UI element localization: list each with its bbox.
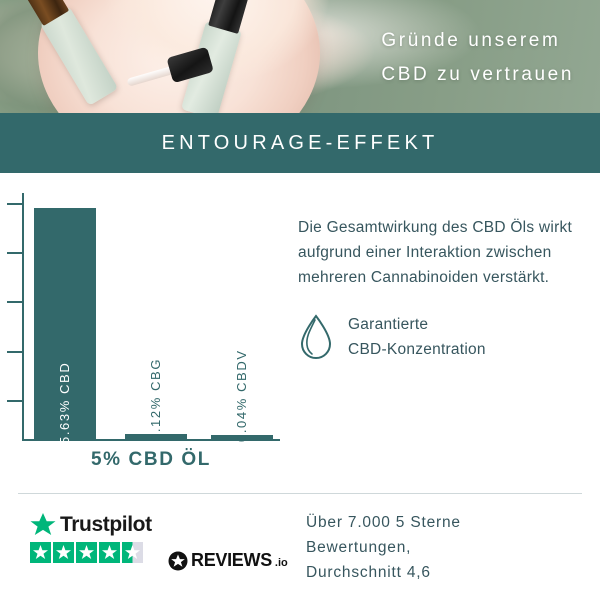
chart-x-axis-label: 5% CBD ÖL [22, 449, 280, 471]
guarantee-line-2: CBD-Konzentration [348, 337, 486, 362]
chart-y-tick [7, 351, 24, 353]
star-icon [101, 544, 118, 561]
water-drop-icon [298, 314, 334, 360]
footer-divider [18, 493, 582, 494]
star-icon [124, 544, 141, 561]
trustpilot-wordmark: Trustpilot [30, 512, 152, 537]
chart-y-tick [7, 400, 24, 402]
reviewsio-star-icon [168, 551, 188, 571]
cannabinoid-bar-chart: 5.63% CBD0.12% CBG0.04% CBDV 5% CBD ÖL [0, 191, 292, 461]
footer-text-line-3: Durchschnitt 4,6 [306, 560, 590, 585]
review-badges: Trustpilot REVIEWS .io [0, 500, 292, 600]
chart-bar-label: 0.12% CBG [148, 358, 163, 441]
trustpilot-star-icon [30, 512, 56, 537]
guarantee-line-1: Garantierte [348, 312, 486, 337]
star-icon [32, 544, 49, 561]
trustpilot-star [122, 542, 143, 563]
star-icon [78, 544, 95, 561]
guarantee-row: Garantierte CBD-Konzentration [298, 312, 588, 362]
trustpilot-star [76, 542, 97, 563]
chart-y-tick [7, 301, 24, 303]
chart-bar-label: 5.63% CBD [57, 362, 72, 444]
trustpilot-star [53, 542, 74, 563]
hero-title-line-2: CBD zu vertrauen [381, 58, 574, 92]
chart-plot-area: 5.63% CBD0.12% CBG0.04% CBDV [24, 193, 280, 439]
trustpilot-star-rating [30, 542, 152, 563]
hero-title: Gründe unserem CBD zu vertrauen [381, 24, 574, 92]
trustpilot-name: Trustpilot [60, 513, 152, 537]
footer-text-line-2: Bewertungen, [306, 535, 590, 560]
main-content: 5.63% CBD0.12% CBG0.04% CBDV 5% CBD ÖL D… [0, 173, 600, 493]
hero-section: Gründe unserem CBD zu vertrauen [0, 0, 600, 113]
chart-y-tick [7, 203, 24, 205]
chart-bar-label: 0.04% CBDV [234, 349, 249, 442]
reviewsio-tld: .io [275, 557, 288, 569]
section-banner: ENTOURAGE-EFFEKT [0, 113, 600, 173]
hero-title-line-1: Gründe unserem [381, 24, 574, 58]
trustpilot-star [30, 542, 51, 563]
guarantee-text: Garantierte CBD-Konzentration [348, 312, 486, 362]
reviewsio-name: REVIEWS [191, 550, 272, 571]
trustpilot-badge[interactable]: Trustpilot [30, 512, 152, 563]
infographic-page: Gründe unserem CBD zu vertrauen ENTOURAG… [0, 0, 600, 600]
description-paragraph: Die Gesamtwirkung des CBD Öls wirkt aufg… [298, 215, 588, 290]
footer-section: Trustpilot REVIEWS .io Über 7.000 5 Ster… [0, 500, 600, 600]
chart-y-tick [7, 252, 24, 254]
trustpilot-star [99, 542, 120, 563]
footer-text-column: Über 7.000 5 Sterne Bewertungen, Durchsc… [306, 510, 590, 585]
reviewsio-badge[interactable]: REVIEWS .io [168, 550, 288, 571]
banner-title: ENTOURAGE-EFFEKT [162, 132, 439, 155]
star-icon [55, 544, 72, 561]
footer-text-line-1: Über 7.000 5 Sterne [306, 510, 590, 535]
description-column: Die Gesamtwirkung des CBD Öls wirkt aufg… [298, 215, 588, 362]
